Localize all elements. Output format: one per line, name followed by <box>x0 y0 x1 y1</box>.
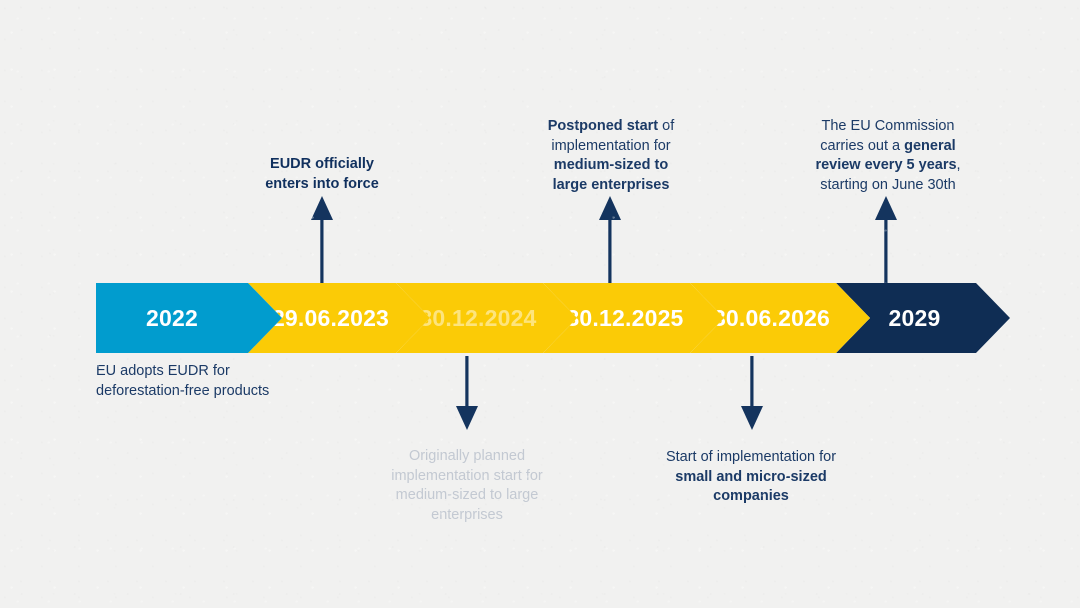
annotation-text-bold: companies <box>713 488 789 504</box>
annotation-text: implementation for <box>551 138 670 154</box>
annotation-text: , <box>957 157 961 173</box>
annotation-line: carries out a general <box>803 137 973 157</box>
timeline-segment-label: 30.12.2025 <box>566 305 683 332</box>
annotation-line: small and micro-sized <box>650 468 852 488</box>
annotation-line: implementation start for <box>378 467 556 487</box>
timeline-diagram: EUDR officiallyenters into force Postpon… <box>0 0 1080 608</box>
arrow-up-2025 <box>597 196 623 284</box>
annotation-originally-planned: Originally plannedimplementation start f… <box>378 447 556 525</box>
annotation-line: Start of implementation for <box>650 448 852 468</box>
annotation-line: EU adopts EUDR for <box>96 362 326 382</box>
annotation-text: enterprises <box>431 507 503 523</box>
annotation-text-bold: large enterprises <box>553 177 670 193</box>
timeline-band: 202229.06.202330.12.202430.12.202530.06.… <box>96 283 976 353</box>
annotation-postponed-start: Postponed start ofimplementation formedi… <box>532 117 690 195</box>
annotation-text-bold: medium-sized to <box>554 157 668 173</box>
annotation-line: starting on June 30th <box>803 176 973 196</box>
annotation-text: The EU Commission <box>822 118 955 134</box>
timeline-segment-label: 2022 <box>146 305 198 332</box>
annotation-text-bold: review every 5 years <box>815 157 956 173</box>
annotation-text-bold: EUDR officially <box>270 156 374 172</box>
annotation-line: Originally planned <box>378 447 556 467</box>
annotation-text: starting on June 30th <box>820 177 955 193</box>
annotation-eudr-in-force: EUDR officiallyenters into force <box>246 155 398 194</box>
annotation-text: Start of implementation for <box>666 449 836 465</box>
annotation-text: of <box>658 118 674 134</box>
annotation-text-bold: small and micro-sized <box>675 469 827 485</box>
annotation-line: enterprises <box>378 506 556 526</box>
annotation-text: medium-sized to large <box>396 487 539 503</box>
arrow-down-2026 <box>739 356 765 430</box>
arrow-up-2029 <box>873 196 899 284</box>
annotation-text: EU adopts EUDR for <box>96 363 230 379</box>
annotation-text-bold: general <box>904 138 956 154</box>
annotation-text-bold: Postponed start <box>548 118 658 134</box>
annotation-line: companies <box>650 487 852 507</box>
timeline-segment-label: 2029 <box>889 305 941 332</box>
annotation-line: enters into force <box>246 175 398 195</box>
annotation-eu-adopts-eudr: EU adopts EUDR fordeforestation-free pro… <box>96 362 326 401</box>
annotation-text: Originally planned <box>409 448 525 464</box>
timeline-segment-label: 29.06.2023 <box>272 305 389 332</box>
annotation-line: medium-sized to <box>532 156 690 176</box>
timeline-segment-label: 30.06.2026 <box>713 305 830 332</box>
annotation-line: EUDR officially <box>246 155 398 175</box>
timeline-segment-2022[interactable]: 2022 <box>96 283 282 353</box>
annotation-line: The EU Commission <box>803 117 973 137</box>
annotation-line: deforestation-free products <box>96 382 326 402</box>
annotation-line: Postponed start of <box>532 117 690 137</box>
arrow-down-2024 <box>454 356 480 430</box>
annotation-line: review every 5 years, <box>803 156 973 176</box>
annotation-line: implementation for <box>532 137 690 157</box>
annotation-line: large enterprises <box>532 176 690 196</box>
annotation-line: medium-sized to large <box>378 486 556 506</box>
arrow-up-2023 <box>309 196 335 284</box>
annotation-text: carries out a <box>820 138 904 154</box>
annotation-general-review: The EU Commissioncarries out a generalre… <box>803 117 973 195</box>
timeline-segment-label: 30.12.2024 <box>419 305 536 332</box>
annotation-small-micro: Start of implementation forsmall and mic… <box>650 448 852 507</box>
annotation-text: implementation start for <box>391 468 543 484</box>
annotation-text-bold: enters into force <box>265 176 379 192</box>
annotation-text: deforestation-free products <box>96 383 269 399</box>
